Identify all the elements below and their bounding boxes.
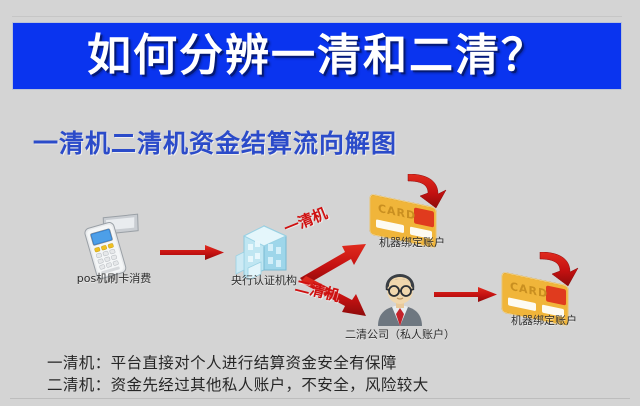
infographic-canvas: 如何分辨一清和二清？ 一清机二清机资金结算流向解图 — [0, 0, 640, 406]
node-label-person: 二清公司（私人账户） — [345, 326, 455, 342]
flow-diagram: pos机刷卡消费 — [0, 170, 640, 350]
footer-note-line-1: 一清机：平台直接对个人进行结算资金安全有保障 — [47, 352, 429, 374]
node-second-clearing-company: 二清公司（私人账户） — [370, 268, 430, 328]
footer-notes: 一清机：平台直接对个人进行结算资金安全有保障 二清机：资金先经过其他私人账户，不… — [47, 352, 429, 396]
bottom-divider — [10, 398, 630, 399]
businessman-icon — [370, 268, 430, 328]
node-pos-terminal: pos机刷卡消费 — [72, 208, 156, 286]
node-label-bank: 央行认证机构 — [231, 272, 297, 288]
node-label-pos: pos机刷卡消费 — [77, 270, 151, 286]
title-banner: 如何分辨一清和二清？ — [12, 22, 622, 90]
top-divider — [12, 16, 622, 17]
footer-note-line-2: 二清机：资金先经过其他私人账户，不安全，风险较大 — [47, 374, 429, 396]
subtitle: 一清机二清机资金结算流向解图 — [33, 124, 397, 160]
page-title: 如何分辨一清和二清？ — [87, 34, 547, 78]
node-label-card-top: 机器绑定账户 — [379, 234, 445, 250]
node-label-card-right: 机器绑定账户 — [511, 312, 577, 328]
arrow-person-to-card-right — [434, 287, 497, 302]
node-card-right: CARD 机器绑定账户 — [500, 252, 588, 326]
node-card-top: CARD 机器绑定账户 — [368, 174, 456, 248]
arrow-pos-to-bank — [160, 245, 224, 260]
